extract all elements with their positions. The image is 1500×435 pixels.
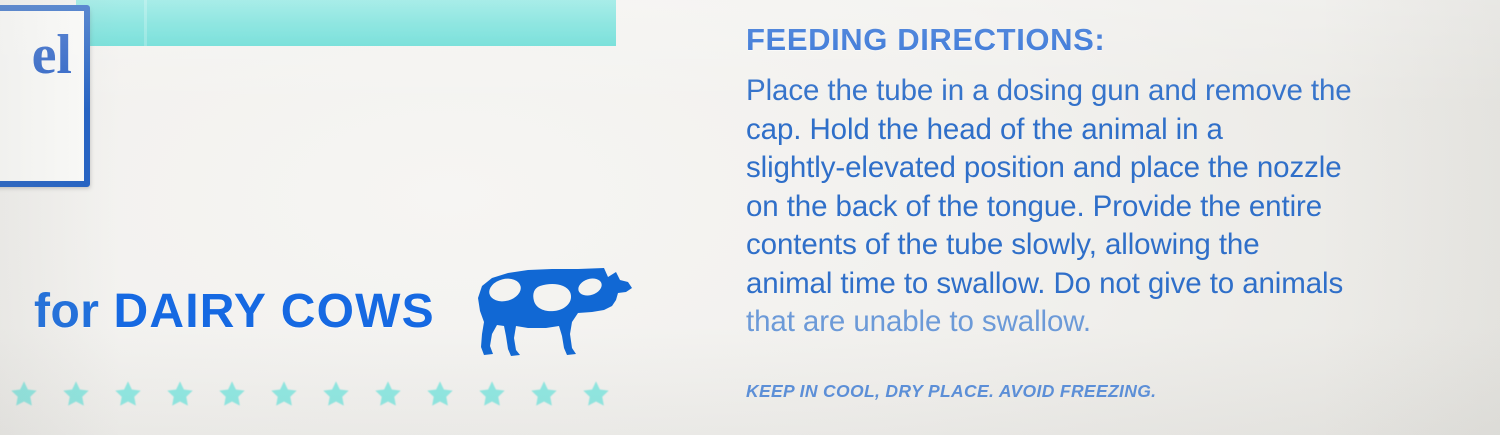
directions-line: Place the tube in a dosing gun and remov… (746, 74, 1352, 107)
star-icon (476, 378, 508, 410)
cow-icon (466, 256, 634, 360)
star-icon (424, 378, 456, 410)
callout-clipped-text: el (32, 27, 72, 83)
feeding-directions-title: FEEDING DIRECTIONS: (746, 22, 1458, 58)
star-icon (320, 378, 352, 410)
feeding-directions-body: Place the tube in a dosing gun and remov… (746, 72, 1458, 342)
star-icon (216, 378, 248, 410)
species-prefix: for (34, 284, 99, 339)
directions-line: animal time to swallow. Do not give to a… (746, 267, 1343, 300)
directions-line: slightly-elevated position and place the… (746, 151, 1342, 184)
directions-line: on the back of the tongue. Provide the e… (746, 190, 1322, 223)
teal-band-seam (144, 0, 147, 46)
star-icon (580, 378, 612, 410)
star-decoration-row (8, 378, 612, 410)
directions-line: contents of the tube slowly, allowing th… (746, 228, 1260, 261)
star-icon (268, 378, 300, 410)
star-icon (112, 378, 144, 410)
species-line: for DAIRY COWS (34, 284, 435, 339)
star-icon (8, 378, 40, 410)
storage-warning-note: KEEP IN COOL, DRY PLACE. AVOID FREEZING. (746, 381, 1156, 402)
product-label-panel: el for DAIRY COWS FEEDING DIRECTIONS: (0, 0, 1500, 435)
star-icon (164, 378, 196, 410)
teal-accent-band (76, 0, 616, 46)
species-name: DAIRY COWS (113, 284, 434, 339)
star-icon (528, 378, 560, 410)
bordered-callout-box: el (0, 5, 90, 187)
star-icon (60, 378, 92, 410)
directions-line: cap. Hold the head of the animal in a (746, 113, 1223, 146)
feeding-directions-block: FEEDING DIRECTIONS: Place the tube in a … (746, 22, 1458, 342)
directions-line-faded: that are unable to swallow. (746, 305, 1091, 338)
star-icon (372, 378, 404, 410)
